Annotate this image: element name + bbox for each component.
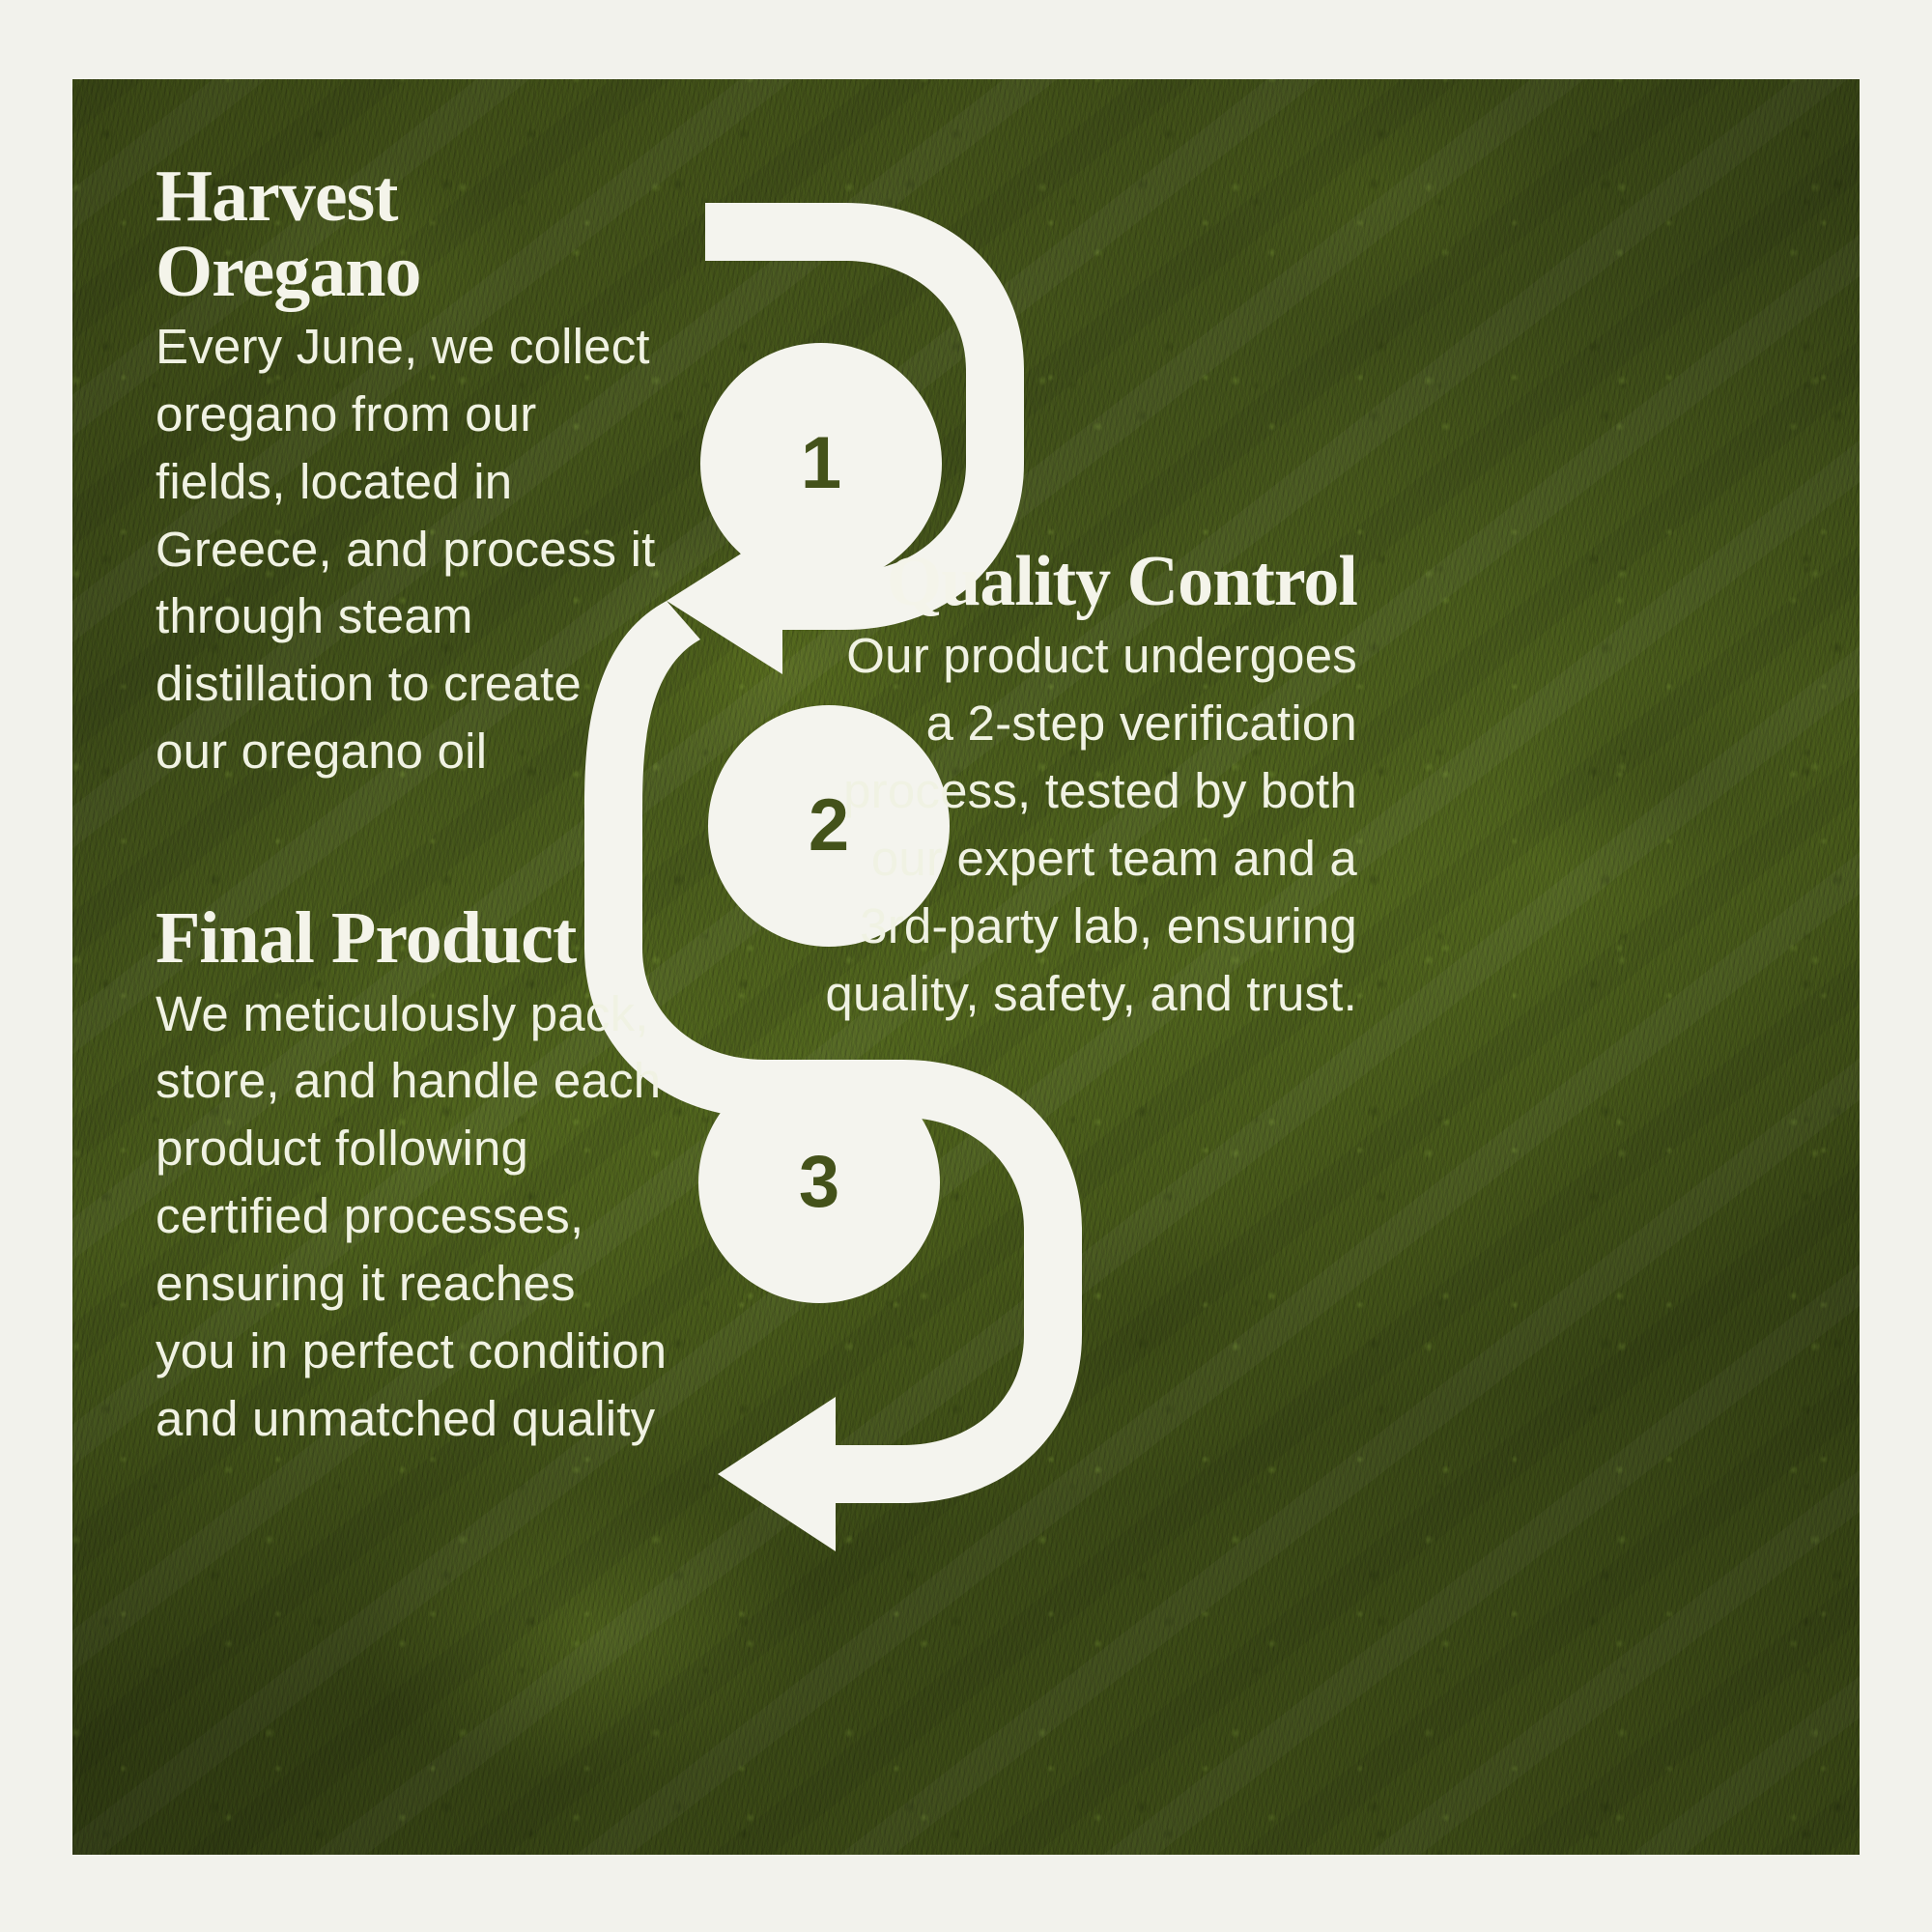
step-body-3: We meticulously pack, store, and handle … (156, 980, 668, 1453)
step-body-1: Every June, we collect oregano from our … (156, 313, 658, 785)
step-block-harvest-oregano: Harvest Oregano Every June, we collect o… (156, 159, 658, 785)
step-title-2: Quality Control (816, 546, 1357, 618)
step-number-1: 1 (801, 427, 841, 500)
step-number-circle-3: 3 (698, 1062, 940, 1303)
step-block-final-product: Final Product We meticulously pack, stor… (156, 901, 668, 1453)
infographic-canvas: 1 2 3 Harvest Oregano Every June, we col… (0, 0, 1932, 1932)
step-body-2: Our product undergoes a 2-step verificat… (816, 622, 1357, 1027)
step-block-quality-control: Quality Control Our product undergoes a … (816, 546, 1357, 1028)
step-title-1: Harvest Oregano (156, 159, 658, 309)
step-title-3: Final Product (156, 901, 668, 977)
background-photo-panel: 1 2 3 Harvest Oregano Every June, we col… (72, 79, 1860, 1855)
step-number-3: 3 (799, 1146, 839, 1219)
